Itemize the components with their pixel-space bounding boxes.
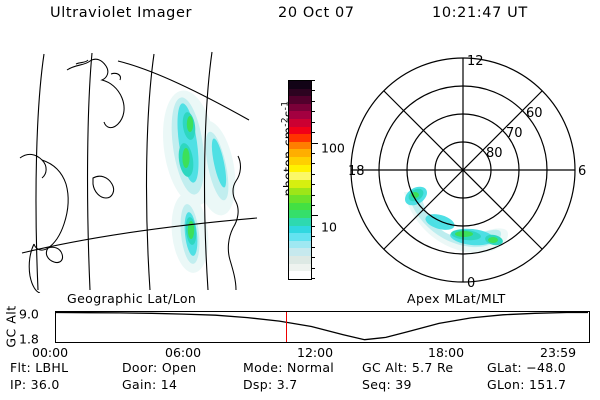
colorbar-tick-mark bbox=[311, 184, 315, 185]
mlt-label-18: 18 bbox=[348, 164, 365, 179]
colorbar-segment bbox=[289, 104, 311, 112]
apex-axis-labels: 12 18 6 0 60 70 80 bbox=[348, 54, 586, 291]
status-gc-alt: GC Alt: 5.7 Re bbox=[362, 360, 453, 375]
colorbar-tick-100: 100 bbox=[321, 141, 345, 156]
status-mode: Mode: Normal bbox=[243, 360, 334, 375]
mlt-label-0: 0 bbox=[467, 276, 475, 291]
colorbar-segment bbox=[289, 157, 311, 165]
strip-y-axis-label: GC Alt bbox=[4, 305, 19, 349]
colorbar-segment bbox=[289, 180, 311, 188]
orbit-altitude-strip[interactable]: GC Alt 9.0 1.8 00:00 06:00 12:00 18:00 2… bbox=[0, 305, 600, 357]
mlt-spokes bbox=[351, 58, 575, 282]
colorbar-tick-mark bbox=[311, 111, 315, 112]
colorbar-segment bbox=[289, 203, 311, 211]
colorbar-segment bbox=[289, 233, 311, 241]
strip-xtick-2: 12:00 bbox=[297, 345, 333, 360]
colorbar-tick-mark bbox=[311, 268, 315, 269]
colorbar: photon cm-2s-1 100 10 bbox=[272, 55, 338, 295]
uv-imager-display: Ultraviolet Imager 20 Oct 07 10:21:47 UT bbox=[0, 0, 600, 400]
colorbar-segment bbox=[289, 264, 311, 272]
colorbar-tick-mark bbox=[311, 195, 315, 196]
apex-polar-panel[interactable]: 12 18 6 0 60 70 80 bbox=[348, 44, 598, 294]
colorbar-tick-mark bbox=[311, 236, 315, 237]
colorbar-segment bbox=[289, 81, 311, 89]
apex-panel-title: Apex MLat/MLT bbox=[407, 291, 506, 306]
colorbar-tick-mark bbox=[311, 174, 315, 175]
strip-xtick-3: 18:00 bbox=[428, 345, 464, 360]
colorbar-gradient bbox=[288, 80, 312, 280]
geographic-panel-title: Geographic Lat/Lon bbox=[67, 291, 196, 306]
colorbar-tick-mark bbox=[311, 143, 318, 144]
colorbar-segment bbox=[289, 165, 311, 173]
mlt-label-6: 6 bbox=[578, 164, 586, 179]
colorbar-segment bbox=[289, 226, 311, 234]
colorbar-segment bbox=[289, 172, 311, 180]
colorbar-segment bbox=[289, 89, 311, 97]
status-seq: Seq: 39 bbox=[362, 377, 412, 392]
colorbar-tick-mark bbox=[311, 122, 315, 123]
apex-polar-svg: 12 18 6 0 60 70 80 bbox=[348, 44, 598, 294]
colorbar-segment bbox=[289, 127, 311, 135]
strip-xtick-1: 06:00 bbox=[165, 345, 201, 360]
colorbar-tick-mark bbox=[311, 101, 315, 102]
mlat-label-70: 70 bbox=[506, 126, 523, 141]
instrument-title: Ultraviolet Imager bbox=[50, 5, 192, 21]
colorbar-segment bbox=[289, 119, 311, 127]
colorbar-segment bbox=[289, 188, 311, 196]
status-door: Door: Open bbox=[122, 360, 196, 375]
colorbar-segment bbox=[289, 111, 311, 119]
status-footer: Flt: LBHL Door: Open Mode: Normal GC Alt… bbox=[0, 360, 600, 398]
status-glon: GLon: 151.7 bbox=[487, 377, 566, 392]
geographic-map-svg bbox=[14, 48, 264, 293]
colorbar-tick-mark bbox=[311, 205, 315, 206]
status-dsp: Dsp: 3.7 bbox=[243, 377, 298, 392]
colorbar-segment bbox=[289, 195, 311, 203]
colorbar-segment bbox=[289, 248, 311, 256]
mlat-label-60: 60 bbox=[526, 106, 543, 121]
colorbar-segment bbox=[289, 142, 311, 150]
colorbar-tick-mark bbox=[311, 247, 315, 248]
geographic-map-panel[interactable] bbox=[14, 48, 264, 293]
colorbar-segment bbox=[289, 96, 311, 104]
colorbar-segment bbox=[289, 256, 311, 264]
colorbar-tick-mark bbox=[311, 80, 315, 81]
colorbar-segment bbox=[289, 271, 311, 279]
strip-ytick-max: 9.0 bbox=[19, 307, 39, 322]
altitude-curve-svg bbox=[56, 312, 588, 341]
colorbar-segment bbox=[289, 241, 311, 249]
mlt-label-12: 12 bbox=[467, 54, 484, 69]
header-bar: Ultraviolet Imager 20 Oct 07 10:21:47 UT bbox=[0, 5, 600, 29]
strip-xtick-0: 00:00 bbox=[32, 345, 68, 360]
observation-date: 20 Oct 07 bbox=[278, 5, 355, 21]
colorbar-tick-mark bbox=[311, 257, 315, 258]
colorbar-tick-mark bbox=[311, 90, 315, 91]
time-cursor[interactable] bbox=[286, 312, 288, 342]
colorbar-segment bbox=[289, 149, 311, 157]
status-gain: Gain: 14 bbox=[122, 377, 177, 392]
colorbar-segment bbox=[289, 210, 311, 218]
colorbar-ticks bbox=[311, 80, 319, 280]
colorbar-segment bbox=[289, 218, 311, 226]
colorbar-segment bbox=[289, 134, 311, 142]
colorbar-tick-mark bbox=[311, 278, 315, 279]
strip-xtick-4: 23:59 bbox=[540, 345, 576, 360]
strip-plot-area[interactable] bbox=[55, 311, 590, 343]
colorbar-tick-10: 10 bbox=[321, 220, 337, 235]
colorbar-tick-mark bbox=[311, 215, 318, 216]
status-flight: Flt: LBHL bbox=[10, 360, 68, 375]
aurora-emission-geographic bbox=[156, 87, 242, 275]
colorbar-tick-mark bbox=[311, 132, 315, 133]
colorbar-tick-mark bbox=[311, 163, 315, 164]
status-ip: IP: 36.0 bbox=[10, 377, 60, 392]
colorbar-tick-mark bbox=[311, 226, 315, 227]
mlat-label-80: 80 bbox=[486, 146, 503, 161]
status-glat: GLat: −48.0 bbox=[487, 360, 566, 375]
observation-time: 10:21:47 UT bbox=[432, 5, 528, 21]
colorbar-tick-mark bbox=[311, 153, 315, 154]
